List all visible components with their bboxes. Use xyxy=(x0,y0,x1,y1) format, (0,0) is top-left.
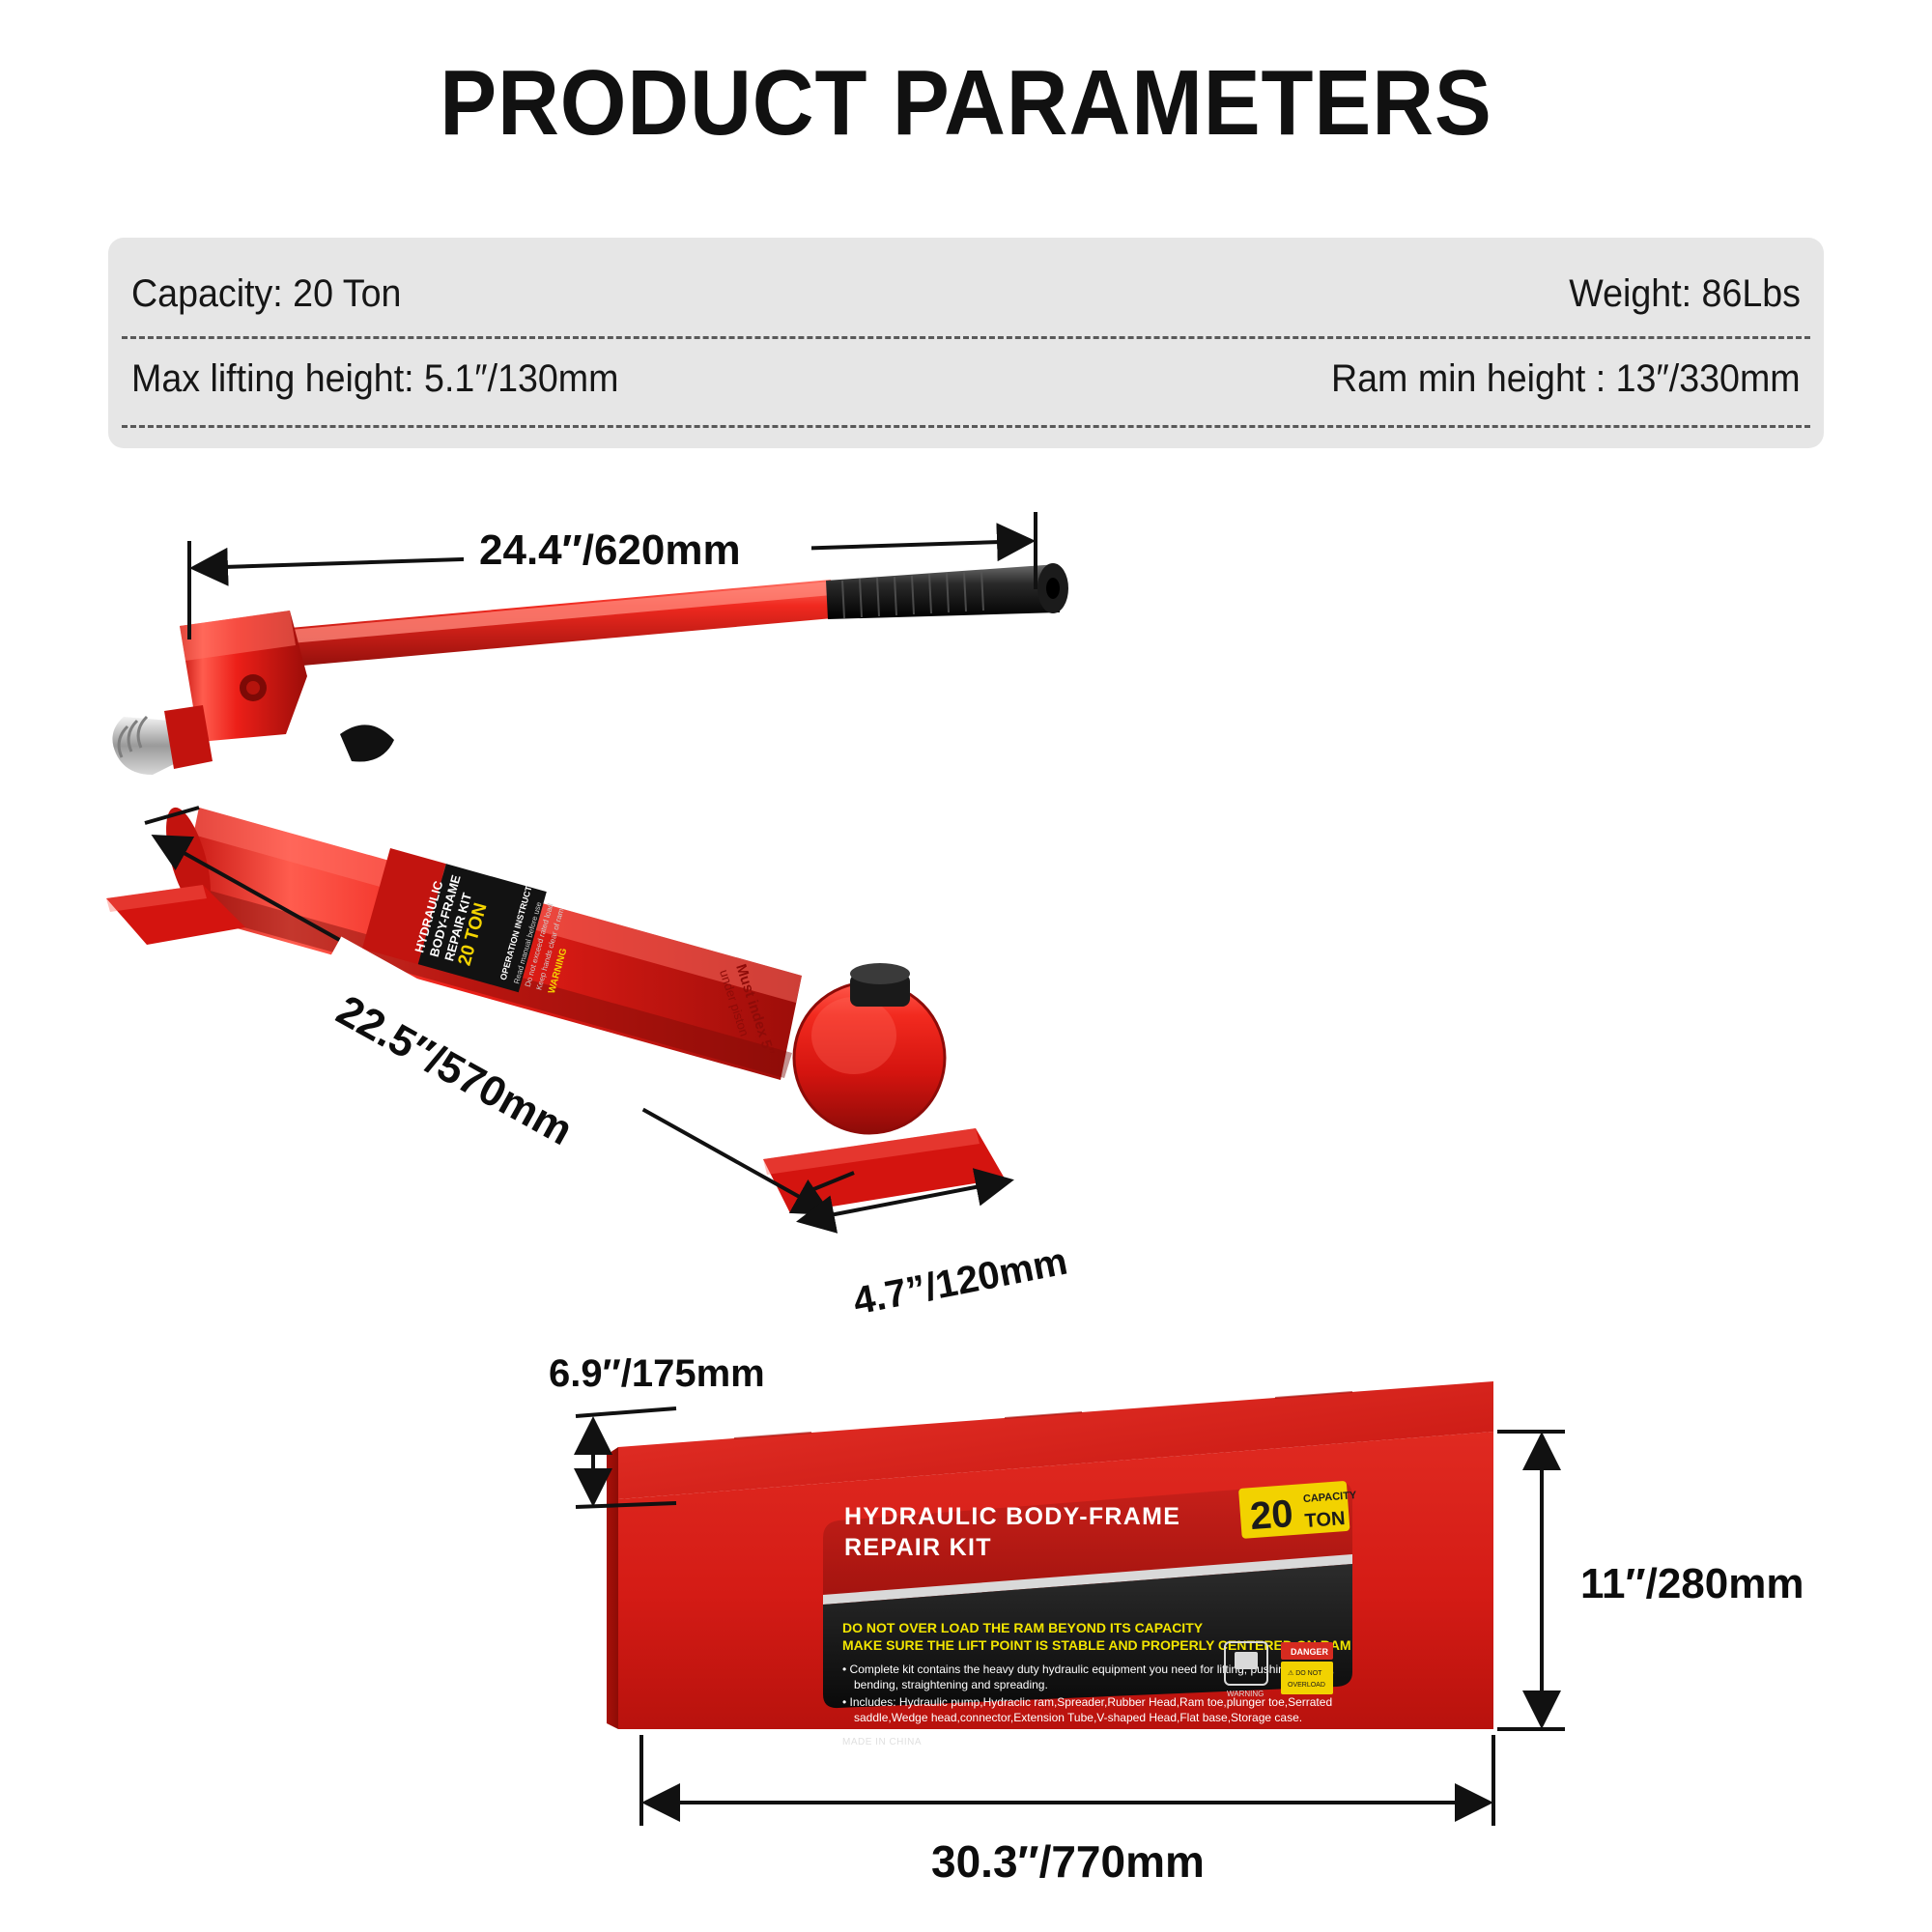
box-illustration: HYDRAULIC BODY-FRAME REPAIR KIT 20 CAPAC… xyxy=(576,1381,1565,1826)
release-knob xyxy=(340,724,394,761)
dim-box-height xyxy=(1497,1432,1565,1729)
svg-text:DANGER: DANGER xyxy=(1291,1647,1329,1657)
svg-text:OVERLOAD: OVERLOAD xyxy=(1288,1682,1325,1689)
product-parameters-page: PRODUCT PARAMETERS Capacity: 20 Ton Weig… xyxy=(0,0,1932,1932)
pump-illustration: HYDRAULIC BODY-FRAME REPAIR KIT 20 TON O… xyxy=(106,512,1068,1221)
product-illustrations: HYDRAULIC BODY-FRAME REPAIR KIT 20 TON O… xyxy=(0,0,1932,1932)
box-label: HYDRAULIC BODY-FRAME REPAIR KIT 20 CAPAC… xyxy=(823,1481,1360,1747)
svg-text:20: 20 xyxy=(1249,1492,1295,1538)
dim-label-box-depth: 6.9″/175mm xyxy=(549,1352,765,1396)
svg-text:DO NOT OVER LOAD THE RAM BEYON: DO NOT OVER LOAD THE RAM BEYOND ITS CAPA… xyxy=(842,1620,1204,1635)
dim-label-box-width: 30.3″/770mm xyxy=(931,1835,1205,1888)
capacity-badge: 20 CAPACITY TON xyxy=(1238,1481,1360,1539)
svg-text:MAKE SURE THE LIFT POINT IS ST: MAKE SURE THE LIFT POINT IS STABLE AND P… xyxy=(842,1637,1351,1653)
pump-outlet-coupler xyxy=(112,705,213,775)
svg-text:⚠ DO NOT: ⚠ DO NOT xyxy=(1288,1669,1322,1677)
dim-label-box-height: 11″/280mm xyxy=(1580,1560,1804,1608)
svg-text:bending, straightening and spr: bending, straightening and spreading. xyxy=(854,1678,1048,1691)
svg-text:TON: TON xyxy=(1304,1508,1346,1532)
svg-text:REPAIR KIT: REPAIR KIT xyxy=(844,1534,992,1561)
danger-icon: DANGER ⚠ DO NOT OVERLOAD xyxy=(1281,1642,1333,1694)
svg-text:HYDRAULIC BODY-FRAME: HYDRAULIC BODY-FRAME xyxy=(844,1503,1180,1530)
svg-text:MADE IN CHINA: MADE IN CHINA xyxy=(842,1737,922,1747)
svg-text:• Complete kit contains the he: • Complete kit contains the heavy duty h… xyxy=(842,1662,1334,1676)
svg-text:WARNING: WARNING xyxy=(1227,1690,1264,1698)
dim-label-handle-length: 24.4″/620mm xyxy=(479,526,741,575)
dim-box-width xyxy=(641,1735,1493,1826)
svg-text:saddle,Wedge head,connector,Ex: saddle,Wedge head,connector,Extension Tu… xyxy=(854,1711,1302,1724)
